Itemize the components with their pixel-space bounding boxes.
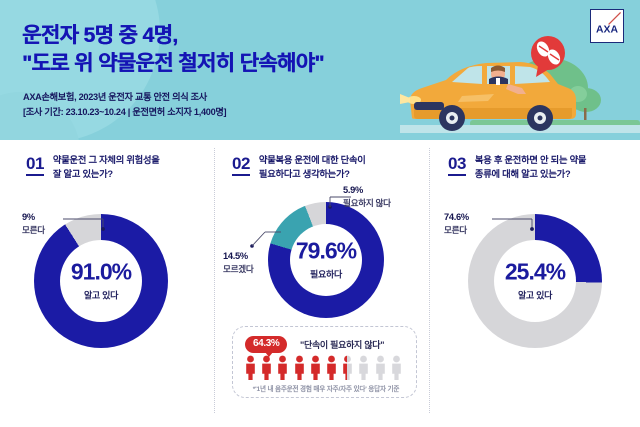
columns-area: 01 약물운전 그 자체의 위험성을 잘 알고 있는가? 91.0% 알고 있다 [0, 140, 640, 427]
callout-02-1-value: 14.5% [223, 250, 253, 263]
question-text-01: 약물운전 그 자체의 위험성을 잘 알고 있는가? [53, 154, 160, 182]
question-header-01: 01 약물운전 그 자체의 위험성을 잘 알고 있는가? [26, 154, 160, 182]
subline-line-1: AXA손해보험, 2023년 운전자 교통 안전 의식 조사 [23, 92, 207, 102]
question-number-01: 01 [26, 155, 44, 176]
badge-percentage: 64.3% [245, 336, 287, 353]
person-icon-8 [357, 355, 370, 381]
question-text-03-line1: 복용 후 운전하면 안 되는 약물 [475, 154, 586, 168]
question-text-02: 약물복용 운전에 대한 단속이 필요하다고 생각하는가? [259, 154, 366, 182]
question-text-02-line2: 필요하다고 생각하는가? [259, 168, 366, 182]
person-icon-3 [276, 355, 289, 381]
question-header-03: 03 복용 후 운전하면 안 되는 약물 종류에 대해 알고 있는가? [448, 154, 586, 182]
callout-02-0: 5.9% 필요하지 않다 [343, 184, 391, 210]
callout-02-0-label: 필요하지 않다 [343, 197, 391, 209]
person-icon-10 [390, 355, 403, 381]
donut-chart-01: 91.0% 알고 있다 [34, 214, 168, 348]
person-icon-6 [325, 355, 338, 381]
question-text-01-line1: 약물운전 그 자체의 위험성을 [53, 154, 160, 168]
person-icon-1 [244, 355, 257, 381]
donut-ring-01: 91.0% 알고 있다 [34, 214, 168, 348]
callout-01-0-label: 모른다 [22, 224, 45, 236]
callout-03-0-value: 74.6% [444, 211, 469, 224]
question-text-03: 복용 후 운전하면 안 되는 약물 종류에 대해 알고 있는가? [475, 154, 586, 182]
infographic-root: 운전자 5명 중 4명, "도로 위 약물운전 철저히 단속해야" AXA손해보… [0, 0, 640, 427]
drunk-driving-callout-box: 64.3% "단속이 필요하지 않다" [232, 326, 417, 398]
badge-quote-text: "단속이 필요하지 않다" [300, 338, 384, 351]
people-pictogram [244, 355, 403, 381]
callout-leader-03 [492, 218, 542, 232]
headline-line-1: 운전자 5명 중 4명, [22, 24, 177, 47]
axa-logo: AXA [590, 9, 624, 43]
question-text-01-line2: 잘 알고 있는가? [53, 168, 160, 182]
donut-center-01: 91.0% 알고 있다 [41, 261, 161, 302]
header-banner: 운전자 5명 중 4명, "도로 위 약물운전 철저히 단속해야" AXA손해보… [0, 0, 640, 140]
donut-center-03: 25.4% 알고 있다 [475, 261, 595, 302]
donut-center-label-01: 알고 있다 [41, 289, 161, 302]
callout-02-0-value: 5.9% [343, 184, 391, 197]
question-number-02: 02 [232, 155, 250, 176]
question-header-02: 02 약물복용 운전에 대한 단속이 필요하다고 생각하는가? [232, 154, 366, 182]
column-02: 02 약물복용 운전에 대한 단속이 필요하다고 생각하는가? 79.6% 필요… [215, 140, 430, 427]
callout-03-0: 74.6% 모른다 [444, 211, 469, 237]
callout-03-0-label: 모른다 [444, 224, 469, 236]
person-icon-7-partial [341, 355, 354, 381]
donut-center-value-03: 25.4% [475, 261, 595, 284]
callout-leader-01 [63, 218, 113, 232]
donut-center-label-03: 알고 있다 [475, 289, 595, 302]
survey-source: AXA손해보험, 2023년 운전자 교통 안전 의식 조사 [조사 기간: 2… [23, 90, 226, 120]
subline-line-2: [조사 기간: 23.10.23~10.24 | 운전면허 소지자 1,400명… [23, 107, 226, 117]
donut-chart-03: 25.4% 알고 있다 [468, 214, 602, 348]
donut-ring-03: 25.4% 알고 있다 [468, 214, 602, 348]
question-text-02-line1: 약물복용 운전에 대한 단속이 [259, 154, 366, 168]
person-icon-9 [374, 355, 387, 381]
footnote-text: *'1년 내 음주운전 경험 매우 자주/자주 있다' 응답자 기준 [241, 383, 411, 393]
callout-02-1-label: 모르겠다 [223, 263, 253, 275]
person-icon-2 [260, 355, 273, 381]
person-icon-5 [309, 355, 322, 381]
callout-02-1: 14.5% 모르겠다 [223, 250, 253, 276]
callout-01-0-value: 9% [22, 211, 45, 224]
donut-center-label-02: 필요하다 [266, 268, 386, 281]
callout-01-0: 9% 모른다 [22, 211, 45, 237]
column-01: 01 약물운전 그 자체의 위험성을 잘 알고 있는가? 91.0% 알고 있다 [0, 140, 215, 427]
svg-text:AXA: AXA [596, 24, 618, 35]
page-title: 운전자 5명 중 4명, "도로 위 약물운전 철저히 단속해야" [22, 22, 324, 77]
person-icon-4 [293, 355, 306, 381]
column-03: 03 복용 후 운전하면 안 되는 약물 종류에 대해 알고 있는가? 25.4… [430, 140, 640, 427]
question-text-03-line2: 종류에 대해 알고 있는가? [475, 168, 586, 182]
headline-line-2: "도로 위 약물운전 철저히 단속해야" [22, 50, 324, 78]
donut-ring-02: 79.6% 필요하다 [268, 202, 384, 318]
question-number-03: 03 [448, 155, 466, 176]
donut-center-value-01: 91.0% [41, 261, 161, 284]
callout-leader-02-b [251, 228, 287, 248]
donut-chart-02: 79.6% 필요하다 [268, 202, 384, 318]
